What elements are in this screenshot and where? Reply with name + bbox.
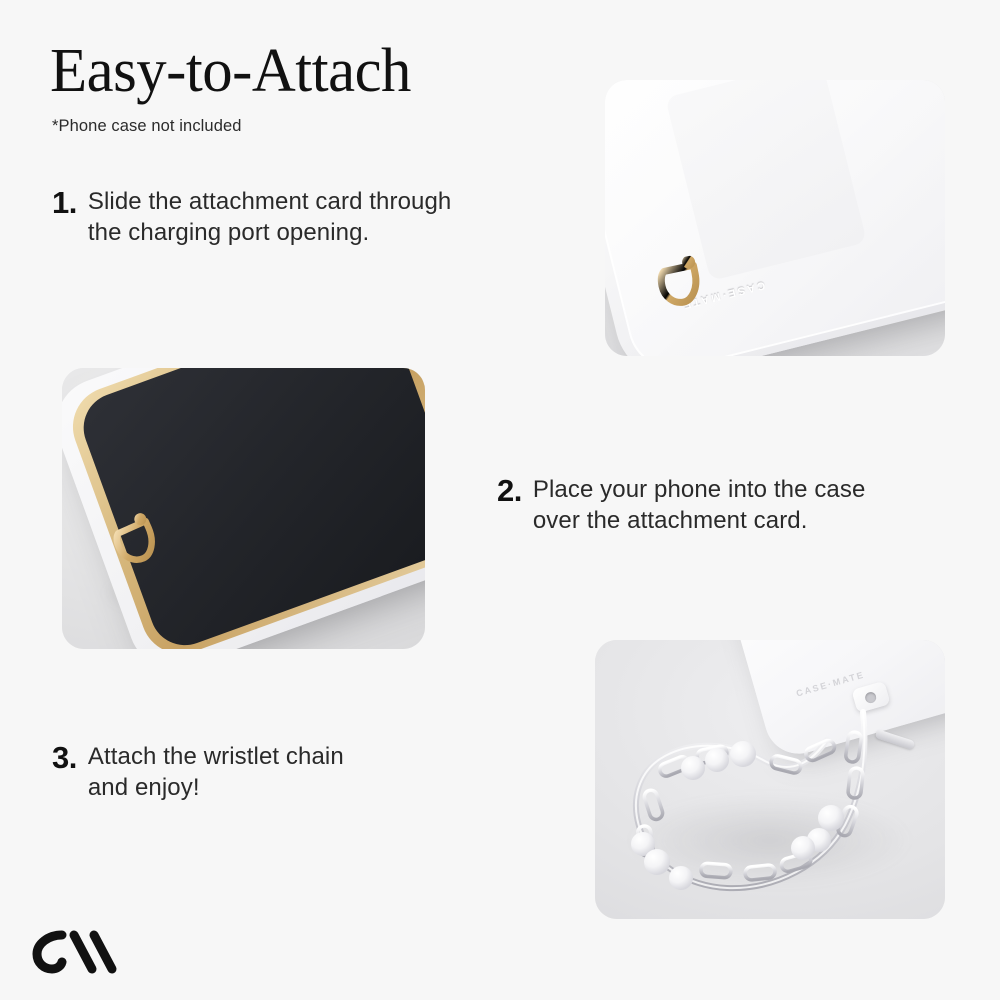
step-1-number: 1.	[52, 186, 77, 220]
photo-step-3: CASE·MATE	[595, 640, 945, 919]
photo-step-1: CASE·MATE	[605, 80, 945, 356]
step-1-text: Slide the attachment card through the ch…	[88, 186, 452, 248]
step-2-number: 2.	[497, 474, 522, 508]
page-subtitle-disclaimer: *Phone case not included	[52, 117, 242, 136]
attachment-card	[665, 80, 866, 281]
page-title: Easy-to-Attach	[50, 40, 411, 102]
step-3-text: Attach the wristlet chain and enjoy!	[88, 741, 344, 803]
pearl-chain-wristlet	[595, 640, 945, 919]
step-1: 1. Slide the attachment card through the…	[52, 186, 451, 248]
clear-phone-case	[605, 80, 945, 356]
step-3: 3. Attach the wristlet chain and enjoy!	[52, 741, 344, 803]
step-3-number: 3.	[52, 741, 77, 775]
case-mate-logo-icon	[28, 925, 124, 977]
product-instruction-page: Easy-to-Attach *Phone case not included …	[0, 0, 1000, 1000]
photo-step-2	[62, 368, 425, 649]
step-2-text: Place your phone into the case over the …	[533, 474, 866, 536]
step-2: 2. Place your phone into the case over t…	[497, 474, 865, 536]
